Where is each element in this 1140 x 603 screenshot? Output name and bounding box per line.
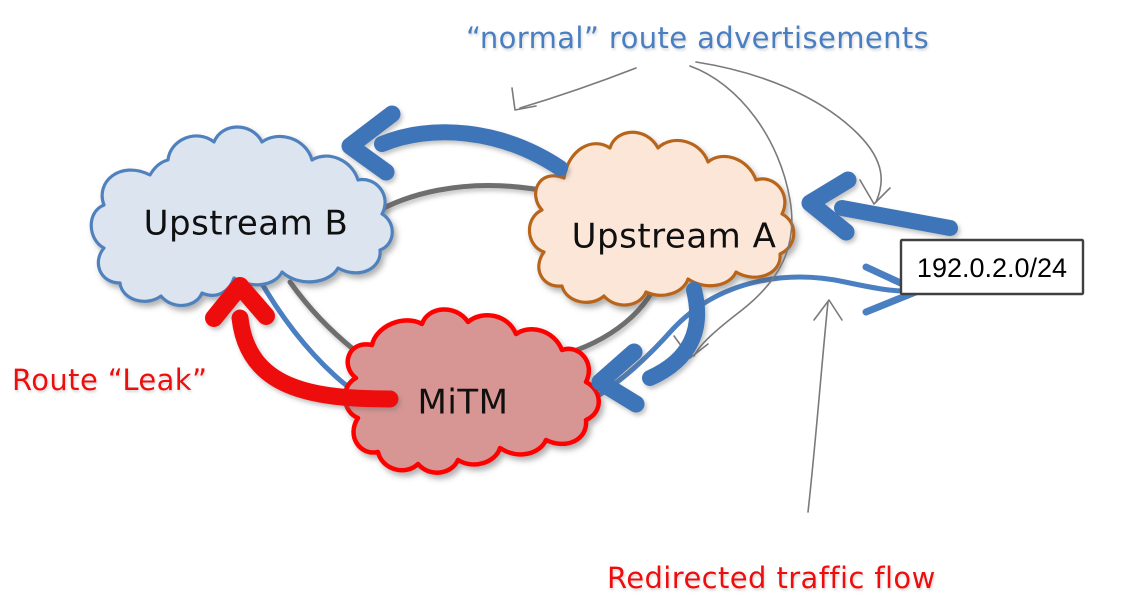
advertisement-to-mitm [600,290,697,404]
annotation-normal-route-advertisements: “normal” route advertisements [466,21,929,55]
prefix-box-label: 192.0.2.0/24 [917,253,1067,283]
diagram-canvas: Upstream B Upstream A MiTM [0,0,1140,603]
leader-redirected-traffic [808,300,842,512]
node-upstream-a[interactable]: Upstream A [529,132,793,305]
leader-advertisement-left [512,68,636,110]
node-label-upstream-b: Upstream B [144,204,349,244]
network-diagram-svg: Upstream B Upstream A MiTM [0,0,1140,603]
node-label-mitm: MiTM [418,383,509,423]
node-label-upstream-a: Upstream A [572,217,777,257]
annotation-route-leak: Route “Leak” [12,363,207,397]
annotation-redirected-traffic-flow: Redirected traffic flow [607,561,936,595]
prefix-box[interactable]: 192.0.2.0/24 [901,240,1083,294]
advertisement-a-to-b [350,114,560,172]
